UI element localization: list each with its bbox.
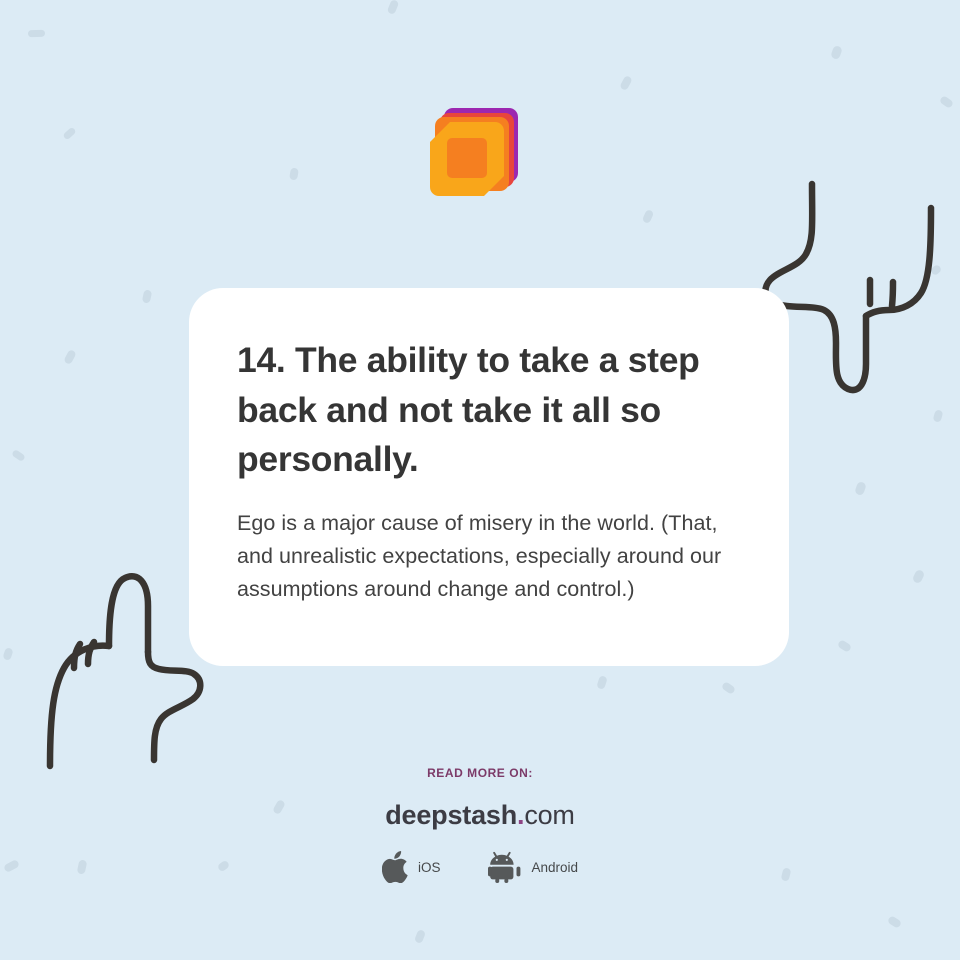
confetti-speck (596, 675, 608, 690)
footer: READ MORE ON: deepstash.com iOS (0, 766, 960, 883)
confetti-speck (2, 647, 13, 661)
poster-canvas: 14. The ability to take a step back and … (0, 0, 960, 960)
pointing-down-hand-illustration (762, 178, 942, 393)
confetti-speck (912, 569, 926, 585)
confetti-speck (939, 95, 954, 109)
confetti-speck (28, 30, 45, 38)
confetti-speck (721, 681, 736, 695)
confetti-speck (854, 481, 867, 496)
brand-name: deepstash (385, 800, 517, 830)
android-store-badge[interactable]: Android (488, 851, 578, 883)
app-store-badges: iOS Android (0, 851, 960, 883)
confetti-speck (289, 167, 299, 180)
read-more-label: READ MORE ON: (0, 766, 960, 780)
logo-layer-amber (430, 122, 504, 196)
ios-store-badge[interactable]: iOS (382, 851, 441, 883)
brand-wordmark[interactable]: deepstash.com (0, 802, 960, 829)
brand-tld: com (524, 800, 574, 830)
confetti-speck (414, 929, 426, 944)
confetti-speck (830, 45, 843, 60)
confetti-speck (933, 409, 944, 423)
confetti-speck (642, 209, 655, 224)
android-icon (488, 851, 522, 883)
confetti-speck (387, 0, 400, 15)
card-body-text: Ego is a major cause of misery in the wo… (237, 507, 739, 607)
android-label: Android (531, 860, 578, 875)
confetti-speck (11, 449, 26, 462)
quote-card: 14. The ability to take a step back and … (189, 288, 789, 666)
confetti-speck (63, 349, 77, 365)
deepstash-logo (430, 108, 518, 196)
confetti-speck (62, 127, 76, 141)
card-heading: 14. The ability to take a step back and … (237, 336, 739, 485)
confetti-speck (837, 639, 852, 653)
confetti-speck (619, 75, 633, 91)
apple-icon (382, 851, 409, 883)
ios-label: iOS (418, 860, 441, 875)
confetti-speck (887, 915, 902, 929)
confetti-speck (142, 289, 153, 303)
